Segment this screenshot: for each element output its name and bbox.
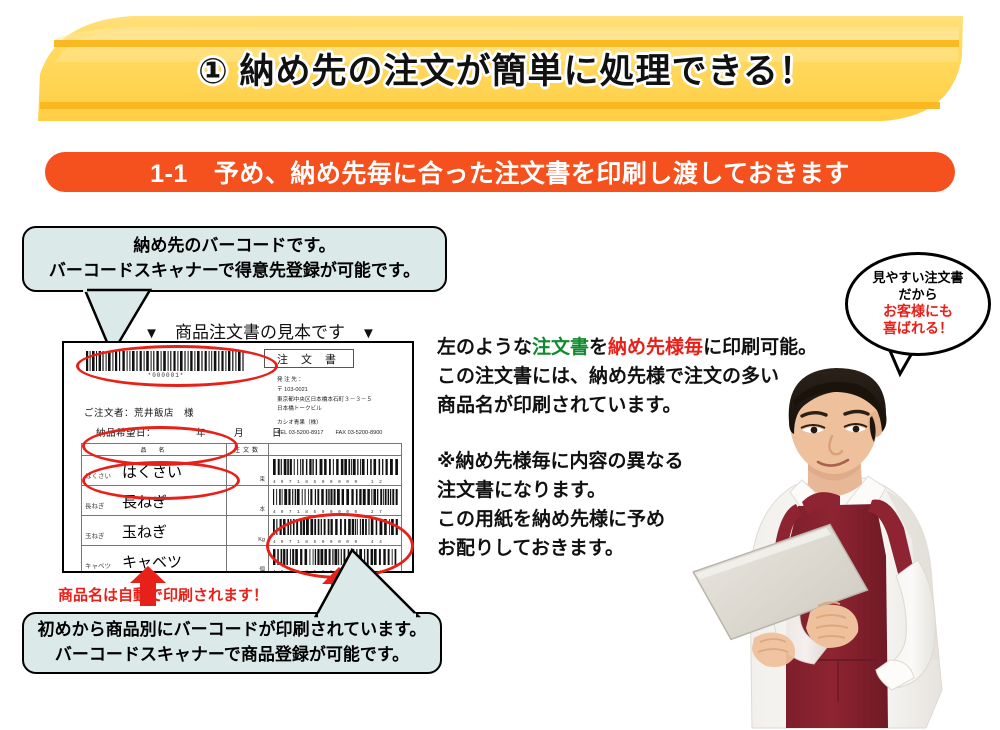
speech-bubble: 見やすい注文書 だから お客様にも 喜ばれる！: [845, 252, 991, 356]
cell-quantity[interactable]: 個: [227, 546, 269, 574]
callout-top-barcode: 納め先のバーコードです。 バーコードスキャナーで得意先登録が可能です。: [22, 226, 447, 292]
slide-canvas: ① 納め先の注文が簡単に処理できる！ 1-1予め、納め先毎に合った注文書を印刷し…: [0, 0, 1000, 730]
cell-quantity[interactable]: 本: [227, 486, 269, 516]
triangle-left-icon: ▼: [144, 325, 159, 342]
product-name-small: キャベツ: [85, 560, 111, 570]
cell-barcode: 49718500000 27: [269, 486, 402, 516]
subheader-number: 1-1: [150, 160, 188, 188]
sample-label-text: 商品注文書の見本です: [175, 323, 345, 342]
bubble-line4: 喜ばれる！: [883, 320, 953, 338]
bubble-line3: お客様にも: [883, 303, 953, 321]
page-title: ① 納め先の注文が簡単に処理できる！: [38, 16, 963, 121]
highlight-oval-product-naganegi: [82, 461, 240, 500]
right-desc2-line2: 注文書になります。: [437, 477, 683, 506]
bubble-line2: だから: [898, 287, 937, 303]
address-line1: 東京都中央区日本橋本石町３－３－５: [277, 396, 414, 406]
callout-top-line1: 納め先のバーコードです。: [133, 234, 335, 259]
rd1-c: を: [589, 337, 608, 358]
product-name-small: 長ねぎ: [85, 500, 105, 510]
bubble-line1: 見やすい注文書: [872, 270, 963, 286]
highlight-oval-product-hakusai: [82, 426, 238, 466]
quantity-unit: 本: [259, 505, 265, 513]
quantity-unit: 個: [259, 565, 265, 573]
right-desc1-line1: 左のような注文書を納め先様毎に印刷可能。: [437, 334, 817, 363]
subheader-label: 予め、納め先毎に合った注文書を印刷し渡しておきます: [214, 160, 850, 188]
triangle-right-icon: ▼: [361, 325, 376, 342]
right-description-2: ※納め先様毎に内容の異なる 注文書になります。 この用紙を納め先様に予め お配り…: [437, 448, 683, 564]
callout-top-line2: バーコードスキャナーで得意先登録が可能です。: [49, 259, 420, 284]
right-desc2-line1: ※納め先様毎に内容の異なる: [437, 448, 683, 477]
rd1-chumonsho: 注文書: [532, 337, 589, 358]
callout-bottom-tail: [296, 548, 426, 620]
supplier-address-block: 発 注 先 ： 〒 103-0021 東京都中央区日本橋本石町３－３－５ 日本橋…: [277, 376, 414, 439]
red-note-auto-print: 商品名は自動で印刷されます！: [58, 584, 268, 605]
orderer-field: ご注文者：荒井飯店 様: [84, 405, 194, 419]
product-barcode: [273, 489, 398, 505]
address-line2: 日本橋トークビル: [277, 405, 414, 415]
rd1-nomesakigoto: 納め先様毎: [608, 337, 703, 358]
subheader-bar: 1-1予め、納め先毎に合った注文書を印刷し渡しておきます: [45, 152, 955, 192]
address-fax: FAX 03-5200-8900: [335, 430, 382, 436]
header-ribbon: ① 納め先の注文が簡単に処理できる！: [38, 16, 963, 121]
staff-person-illustration: [690, 360, 1000, 730]
address-tel: TEL 03-5200-8917: [277, 430, 323, 436]
address-company: カシオ青果（株）: [277, 419, 414, 429]
product-name-large: 玉ねぎ: [122, 521, 167, 542]
sample-label: ▼商品注文書の見本です▼: [115, 318, 405, 343]
rd1-e: に印刷可能。: [703, 337, 817, 358]
product-barcode: [273, 459, 398, 475]
date-day: 日: [272, 428, 282, 439]
cell-barcode: 49718500000 12: [269, 456, 402, 486]
cell-product-name: 玉ねぎ玉ねぎ: [82, 516, 227, 546]
quantity-unit: 束: [259, 475, 265, 483]
product-barcode-number: 49718500000 12: [273, 480, 398, 485]
callout-bottom-line2: バーコードスキャナーで商品登録が可能です。: [55, 643, 409, 668]
subheader-text: 1-1予め、納め先毎に合った注文書を印刷し渡しておきます: [150, 154, 850, 190]
address-label: 発 注 先 ：: [277, 376, 414, 386]
address-contact: TEL 03-5200-8917FAX 03-5200-8900: [277, 429, 414, 439]
right-desc2-line3: この用紙を納め先様に予め: [437, 506, 683, 535]
right-desc2-line4: お配りしておきます。: [437, 535, 683, 564]
highlight-oval-customer-barcode: [76, 345, 278, 387]
cell-quantity[interactable]: Kg: [227, 516, 269, 546]
address-postal: 〒 103-0021: [277, 386, 414, 396]
th-barcode: [269, 444, 402, 456]
callout-bottom-line1: 初めから商品別にバーコードが印刷されています。: [38, 618, 427, 643]
callout-bottom-barcode: 初めから商品別にバーコードが印刷されています。 バーコードスキャナーで商品登録が…: [22, 612, 442, 674]
product-name-small: 玉ねぎ: [85, 530, 105, 540]
date-month: 月: [234, 428, 244, 439]
rd1-a: 左のような: [437, 337, 532, 358]
quantity-unit: Kg: [258, 537, 265, 543]
